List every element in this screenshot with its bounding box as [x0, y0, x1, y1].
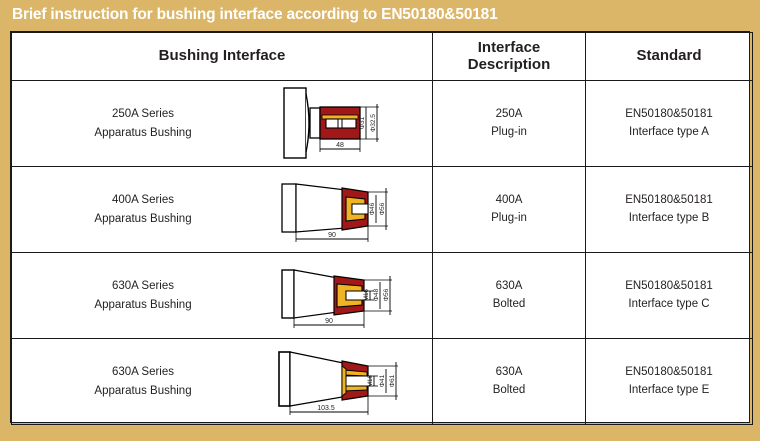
dimension-length: 103.5 — [317, 405, 335, 412]
dimension-outer-diameter: Φ61 — [389, 374, 396, 387]
table-header-row: Bushing Interface Interface Description … — [12, 33, 753, 81]
table-row: 630A Series Apparatus Bushing — [12, 253, 753, 339]
standard-cell: EN50180&50181 Interface type C — [586, 253, 753, 339]
interface-description-line2: Plug-in — [433, 210, 585, 228]
dimension-inner-diameter: Φ31 — [359, 116, 366, 129]
column-header-standard: Standard — [586, 33, 753, 81]
dimension-outer-diameter: Φ32.5 — [370, 113, 377, 131]
interface-description-line2: Bolted — [433, 296, 585, 314]
interface-description-cell: 630A Bolted — [433, 253, 586, 339]
standard-line1: EN50180&50181 — [586, 278, 752, 296]
dimension-outer-diameter: Φ56 — [383, 288, 390, 301]
interface-description-cell: 250A Plug-in — [433, 81, 586, 167]
dimension-inner-diameter: Φ41 — [379, 374, 386, 387]
standard-line1: EN50180&50181 — [586, 364, 752, 382]
bushing-spec-table: Bushing Interface Interface Description … — [11, 32, 753, 425]
bushing-name: 630A Series Apparatus Bushing — [12, 363, 274, 400]
standard-line1: EN50180&50181 — [586, 192, 752, 210]
bushing-250a-figure: Φ31 Φ32.5 48 — [274, 84, 432, 164]
standard-cell: EN50180&50181 Interface type A — [586, 81, 753, 167]
dimension-length: 90 — [325, 318, 333, 325]
standard-line2: Interface type C — [586, 296, 752, 314]
bushing-interface-cell: 630A Series Apparatus Bushing — [12, 339, 433, 425]
bushing-name-line1: 400A Series — [12, 191, 274, 209]
bushing-interface-cell: 250A Series Apparatus Bushing — [12, 81, 433, 167]
bushing-name-line1: 630A Series — [12, 277, 274, 295]
interface-description-cell: 400A Plug-in — [433, 167, 586, 253]
column-header-bushing-interface: Bushing Interface — [12, 33, 433, 81]
table-row: 400A Series Apparatus Bushing — [12, 167, 753, 253]
standard-cell: EN50180&50181 Interface type B — [586, 167, 753, 253]
dimension-outer-diameter: Φ56 — [379, 202, 386, 215]
standard-line2: Interface type B — [586, 210, 752, 228]
page-root: Brief instruction for bushing interface … — [0, 0, 760, 441]
interface-description-cell: 630A Bolted — [433, 339, 586, 425]
bushing-name-line2: Apparatus Bushing — [12, 124, 274, 142]
bushing-interface-cell: 630A Series Apparatus Bushing — [12, 253, 433, 339]
standard-line2: Interface type E — [586, 382, 752, 400]
page-title: Brief instruction for bushing interface … — [0, 6, 498, 24]
bushing-400a-figure: Φ46 Φ56 90 — [274, 170, 432, 250]
dimension-inner-diameter: Φ46 — [369, 202, 376, 215]
bushing-630a-c-figure: M16 Φ48 Φ56 — [274, 256, 432, 336]
spec-table-container: Bushing Interface Interface Description … — [10, 31, 750, 423]
standard-cell: EN50180&50181 Interface type E — [586, 339, 753, 425]
dimension-inner-diameter: Φ48 — [373, 288, 380, 301]
bushing-name: 630A Series Apparatus Bushing — [12, 277, 274, 314]
interface-description-line1: 630A — [433, 278, 585, 296]
standard-line2: Interface type A — [586, 124, 752, 142]
interface-description-line1: 400A — [433, 192, 585, 210]
dimension-thread: M16 — [368, 374, 374, 386]
table-row: 630A Series Apparatus Bushing — [12, 339, 753, 425]
table-body: 250A Series Apparatus Bushing — [12, 81, 753, 425]
dimension-length: 90 — [328, 232, 336, 239]
interface-description-line2: Plug-in — [433, 124, 585, 142]
title-banner: Brief instruction for bushing interface … — [0, 0, 760, 30]
table-row: 250A Series Apparatus Bushing — [12, 81, 753, 167]
table-header: Bushing Interface Interface Description … — [12, 33, 753, 81]
column-header-interface-description: Interface Description — [433, 33, 586, 81]
dimension-length: 48 — [336, 142, 344, 149]
standard-line1: EN50180&50181 — [586, 106, 752, 124]
bushing-name-line2: Apparatus Bushing — [12, 296, 274, 314]
interface-description-line1: 250A — [433, 106, 585, 124]
interface-description-line2: Bolted — [433, 382, 585, 400]
bushing-name-line2: Apparatus Bushing — [12, 210, 274, 228]
bushing-name: 400A Series Apparatus Bushing — [12, 191, 274, 228]
bushing-name-line1: 630A Series — [12, 363, 274, 381]
interface-description-line1: 630A — [433, 364, 585, 382]
bushing-name-line2: Apparatus Bushing — [12, 382, 274, 400]
bushing-name-line1: 250A Series — [12, 105, 274, 123]
bushing-630a-e-figure: M16 Φ41 Φ61 — [274, 342, 432, 422]
dimension-thread: M16 — [364, 288, 370, 300]
bushing-name: 250A Series Apparatus Bushing — [12, 105, 274, 142]
bushing-interface-cell: 400A Series Apparatus Bushing — [12, 167, 433, 253]
